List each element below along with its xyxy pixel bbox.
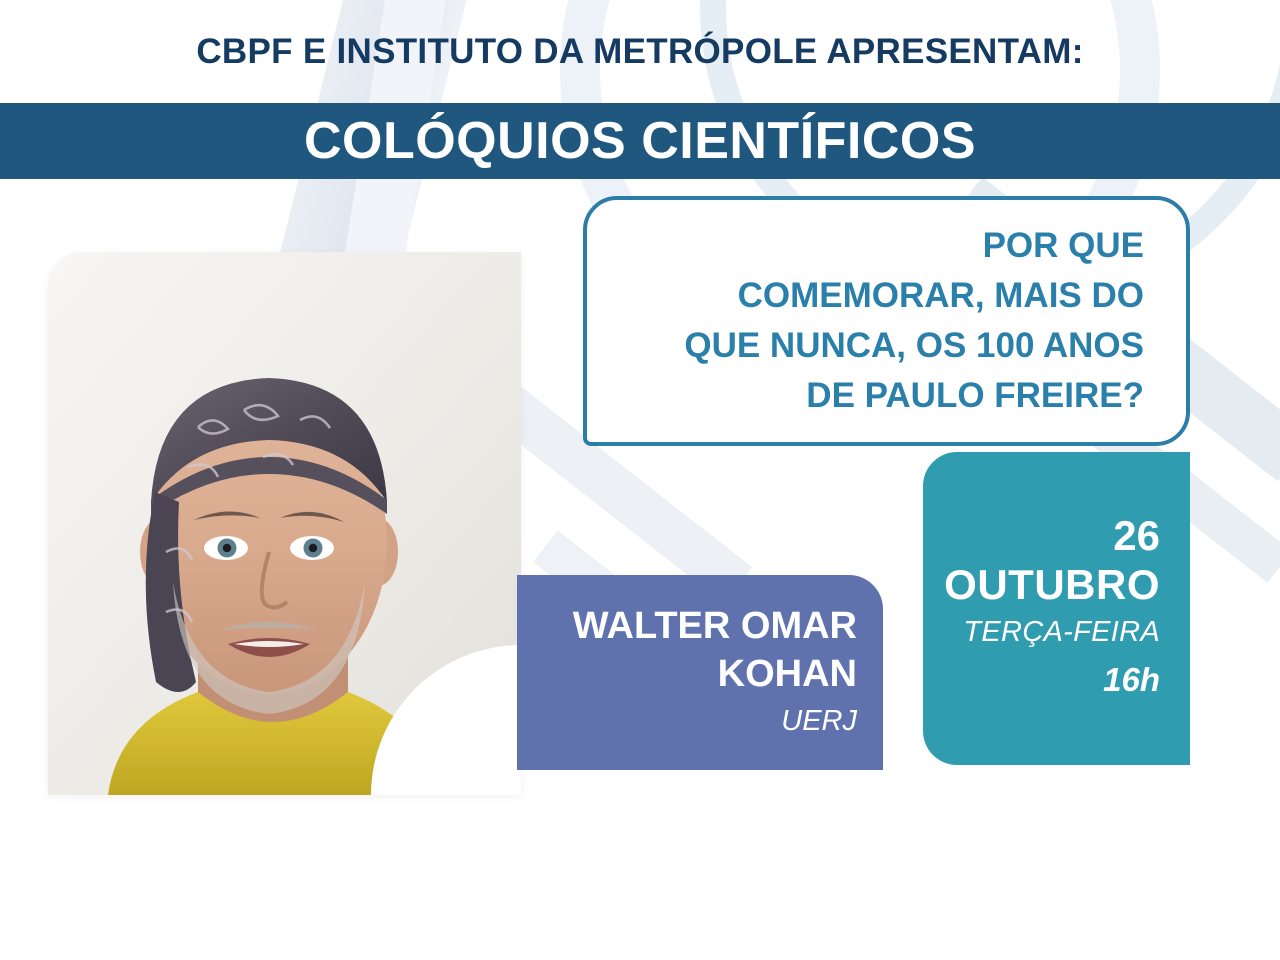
speaker-name-line-2: KOHAN — [718, 650, 857, 698]
speaker-portrait-illustration — [48, 252, 521, 795]
event-month: OUTUBRO — [944, 560, 1160, 610]
poster-canvas: CBPF E INSTITUTO DA METRÓPOLE APRESENTAM… — [0, 0, 1280, 960]
series-title: COLÓQUIOS CIENTÍFICOS — [304, 111, 976, 171]
event-day: 26 — [1113, 512, 1160, 560]
event-date-block: 26 OUTUBRO TERÇA-FEIRA 16h — [923, 452, 1190, 765]
event-weekday: TERÇA-FEIRA — [963, 610, 1160, 654]
footer: Transmissão ao vivo youtube.com/CBPFvide… — [0, 810, 1280, 960]
talk-title-callout: POR QUE COMEMORAR, MAIS DO QUE NUNCA, OS… — [583, 196, 1190, 446]
speaker-name-line-1: WALTER OMAR — [573, 602, 857, 650]
event-time: 16h — [1103, 654, 1160, 706]
talk-title-line-2: COMEMORAR, MAIS DO — [738, 271, 1144, 321]
talk-title-line-4: DE PAULO FREIRE? — [806, 371, 1144, 421]
presenters-title: CBPF E INSTITUTO DA METRÓPOLE APRESENTAM… — [196, 32, 1083, 72]
talk-title-line-1: POR QUE — [983, 221, 1144, 271]
speaker-photo — [48, 252, 521, 795]
speaker-name-block: WALTER OMAR KOHAN UERJ — [517, 575, 883, 770]
speaker-affiliation: UERJ — [781, 698, 857, 744]
presenters-header: CBPF E INSTITUTO DA METRÓPOLE APRESENTAM… — [0, 0, 1280, 103]
talk-title-line-3: QUE NUNCA, OS 100 ANOS — [684, 321, 1144, 371]
series-title-band: COLÓQUIOS CIENTÍFICOS — [0, 103, 1280, 179]
